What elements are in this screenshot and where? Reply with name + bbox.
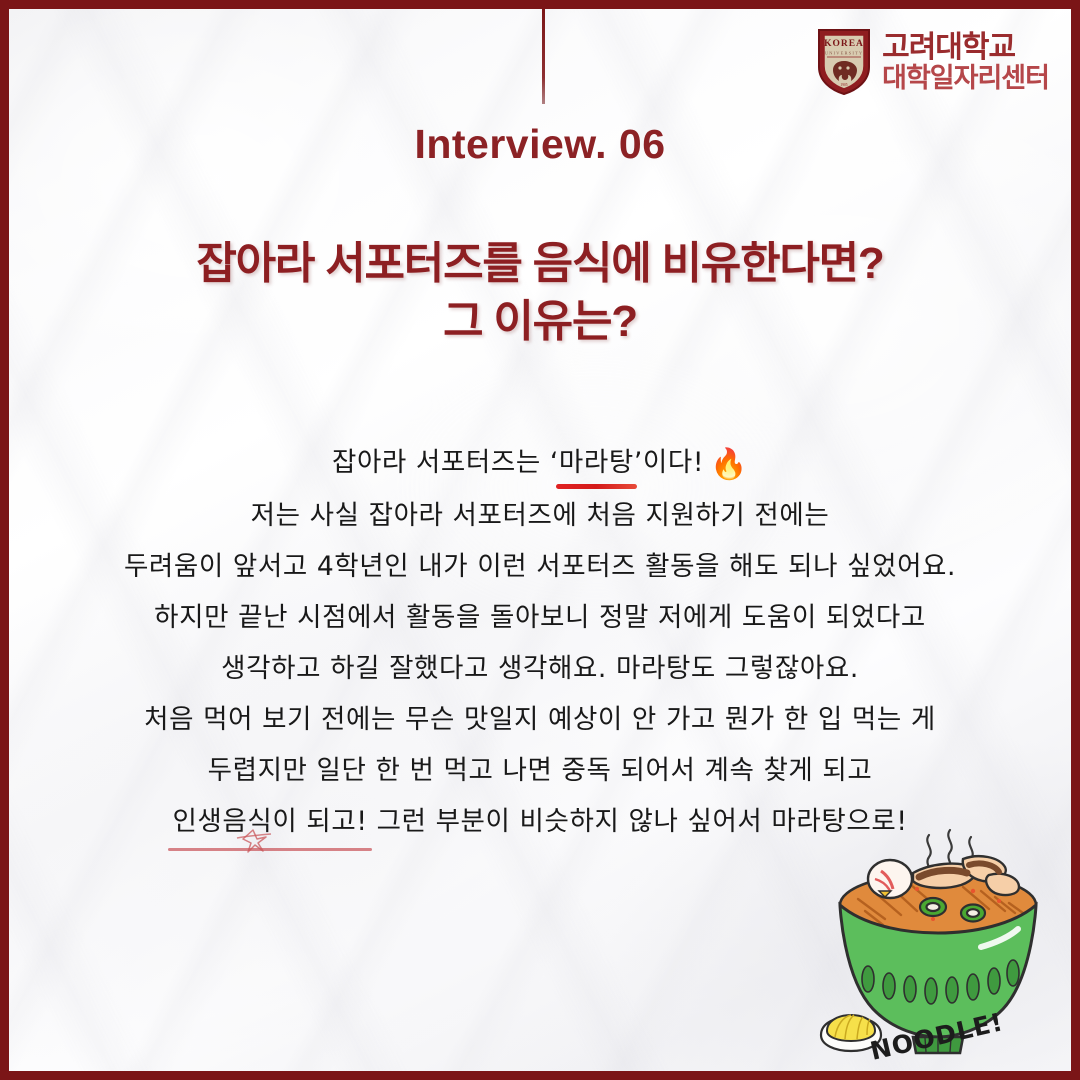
faint-underline-phrase: 인생음식이 되고! [172, 796, 367, 847]
answer-line: 하지만 끝난 시점에서 활동을 돌아보니 정말 저에게 도움이 되었다고 [9, 592, 1071, 643]
logo-name-line1: 고려대학교 [882, 32, 1049, 63]
headline-line-2: 그 이유는? [9, 293, 1071, 351]
answer-line: 저는 사실 잡아라 서포터즈에 처음 지원하기 전에는 [9, 490, 1071, 541]
headline-line-1: 잡아라 서포터즈를 음식에 비유한다면? [196, 239, 883, 288]
pink-highlight-phrase: 도움이 되었다고 [742, 592, 926, 643]
svg-text:KOREA: KOREA [824, 39, 864, 49]
answer-text: 잡아라 서포터즈는 ‘ [332, 447, 559, 478]
logo-wordmark: 고려대학교 대학일자리센터 [882, 32, 1049, 91]
page-title: 잡아라 서포터즈를 음식에 비유한다면? 그 이유는? [9, 235, 1071, 351]
answer-line: 처음 먹어 보기 전에는 무슨 맛일지 예상이 안 가고 뭔가 한 입 먹는 게 [9, 694, 1071, 745]
answer-text: 두려움이 앞서고 4학년인 내가 이런 서포터즈 활동을 해도 되나 싶었어요. [124, 551, 956, 582]
answer-line: 두려움이 앞서고 4학년인 내가 이런 서포터즈 활동을 해도 되나 싶었어요. [9, 541, 1071, 592]
answer-text: ’이다! [634, 447, 704, 478]
ku-crest-icon: KOREA UNIVERSITY 1905 [816, 27, 872, 97]
red-underline-phrase: 마라탕 [559, 437, 634, 488]
answer-line: 잡아라 서포터즈는 ‘마라탕’이다!🔥 [9, 437, 1071, 490]
answer-text: 저는 사실 잡아라 서포터즈에 처음 지원하기 전에는 [251, 500, 830, 531]
korea-university-logo: KOREA UNIVERSITY 1905 고려대학교 대학일자리센터 [816, 27, 1049, 97]
header-divider [542, 9, 545, 104]
fire-emoji-icon: 🔥 [710, 447, 748, 482]
logo-name-line2: 대학일자리센터 [882, 64, 1049, 92]
interview-card: KOREA UNIVERSITY 1905 고려대학교 대학일자리센터 Inte… [0, 0, 1080, 1080]
answer-line: 두렵지만 일단 한 번 먹고 나면 중독 되어서 계속 찾게 되고 [9, 745, 1071, 796]
answer-text: 생각하고 하길 잘했다고 생각해요. 마라탕도 그렇잖아요. [221, 653, 859, 684]
svg-text:UNIVERSITY: UNIVERSITY [825, 51, 864, 56]
answer-body: 잡아라 서포터즈는 ‘마라탕’이다!🔥 저는 사실 잡아라 서포터즈에 처음 지… [9, 437, 1071, 847]
answer-text: 하지만 끝난 시점에서 활동을 돌아보니 정말 저에게 [154, 602, 742, 633]
interview-number-label: Interview. 06 [9, 121, 1071, 168]
answer-line: 생각하고 하길 잘했다고 생각해요. 마라탕도 그렇잖아요. [9, 643, 1071, 694]
answer-text: 처음 먹어 보기 전에는 무슨 맛일지 예상이 안 가고 뭔가 한 입 먹는 게 [144, 704, 936, 735]
answer-text: 두렵지만 일단 한 번 먹고 나면 중독 되어서 계속 찾게 되고 [208, 755, 873, 786]
svg-text:1905: 1905 [841, 83, 848, 87]
